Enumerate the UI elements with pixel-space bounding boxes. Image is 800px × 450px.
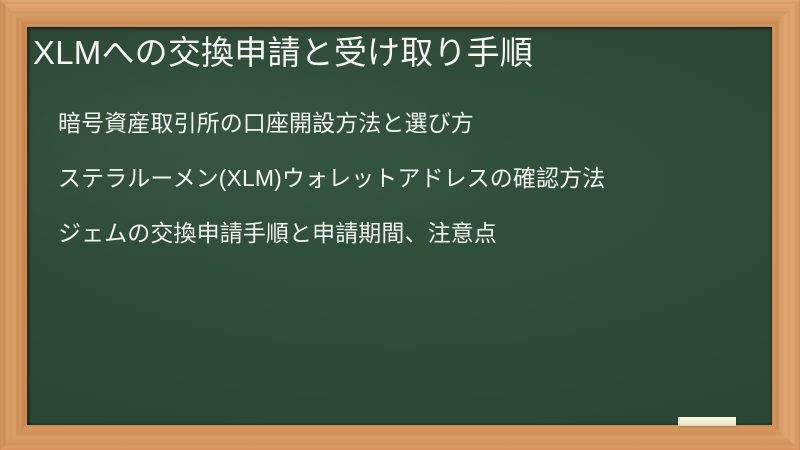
list-item: 暗号資産取引所の口座開設方法と選び方 <box>58 105 758 141</box>
frame-rail-bottom <box>0 425 800 450</box>
frame-rail-top <box>0 0 800 27</box>
list-item: ステラルーメン(XLM)ウォレットアドレスの確認方法 <box>58 160 758 196</box>
board-content: XLMへの交換申請と受け取り手順 暗号資産取引所の口座開設方法と選び方 ステラル… <box>27 27 772 425</box>
slide-bullet-list: 暗号資産取引所の口座開設方法と選び方 ステラルーメン(XLM)ウォレットアドレス… <box>58 105 758 251</box>
slide-title: XLMへの交換申請と受け取り手順 <box>33 31 753 75</box>
list-item: ジェムの交換申請手順と申請期間、注意点 <box>58 215 758 251</box>
chalkboard-slide: XLMへの交換申請と受け取り手順 暗号資産取引所の口座開設方法と選び方 ステラル… <box>0 0 800 450</box>
frame-rail-right <box>772 0 800 450</box>
chalkboard-surface: XLMへの交換申請と受け取り手順 暗号資産取引所の口座開設方法と選び方 ステラル… <box>27 27 772 425</box>
frame-rail-left <box>0 0 27 450</box>
chalk-stick <box>678 417 736 426</box>
